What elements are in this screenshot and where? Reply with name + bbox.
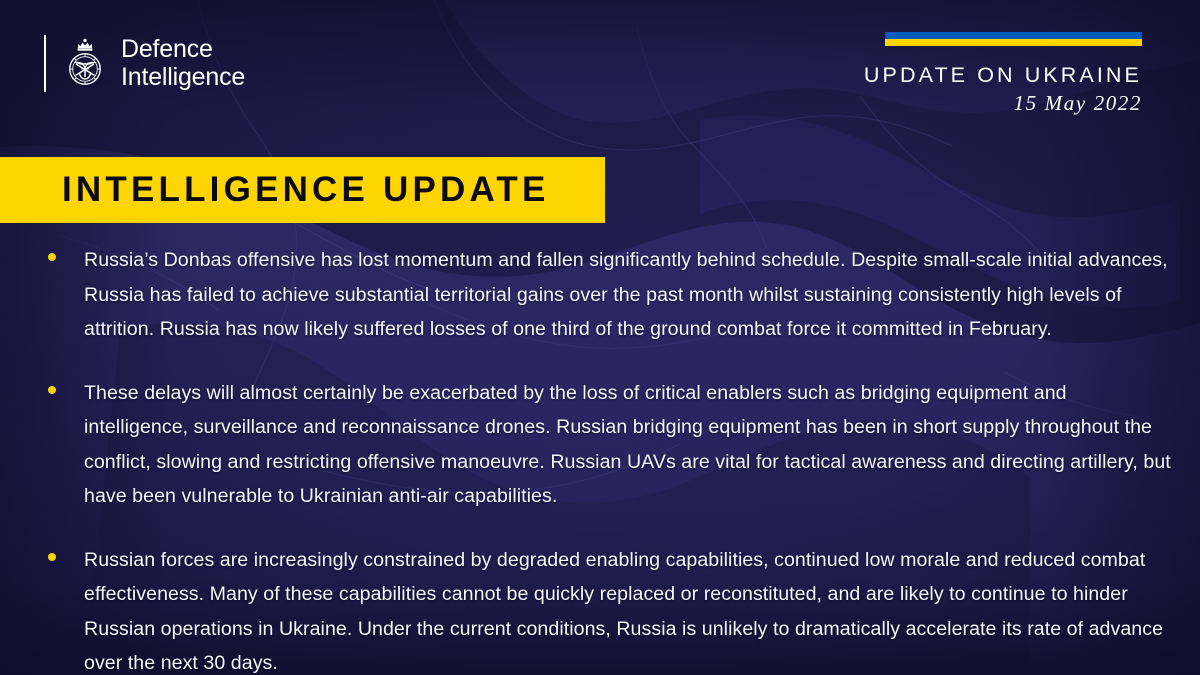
ukraine-flag-bar-icon: [885, 32, 1142, 46]
flag-stripe-blue: [885, 32, 1142, 39]
royal-crest-icon: [62, 33, 108, 93]
organisation-name-line2: Intelligence: [121, 63, 245, 91]
logo-divider-rule: [44, 35, 46, 92]
intelligence-update-banner: INTELLIGENCE UPDATE: [0, 157, 605, 223]
header-right-block: UPDATE ON UKRAINE 15 May 2022: [864, 32, 1142, 116]
list-item: These delays will almost certainly be ex…: [40, 376, 1174, 514]
bullet-dot-icon: [48, 553, 56, 561]
bullet-dot-icon: [48, 253, 56, 261]
banner-label: INTELLIGENCE UPDATE: [62, 170, 550, 210]
update-title: UPDATE ON UKRAINE: [864, 63, 1142, 88]
defence-intelligence-logo: Defence Intelligence: [44, 33, 245, 93]
poster-content: Defence Intelligence UPDATE ON UKRAINE 1…: [0, 0, 1200, 675]
organisation-name-line1: Defence: [121, 35, 245, 63]
bullet-text: Russia’s Donbas offensive has lost momen…: [84, 243, 1174, 347]
organisation-name: Defence Intelligence: [121, 35, 245, 91]
bullet-text: Russian forces are increasingly constrai…: [84, 543, 1174, 675]
bullet-text: These delays will almost certainly be ex…: [84, 376, 1174, 514]
bullet-list: Russia’s Donbas offensive has lost momen…: [40, 243, 1174, 675]
flag-stripe-yellow: [885, 39, 1142, 46]
list-item: Russia’s Donbas offensive has lost momen…: [40, 243, 1174, 347]
intelligence-update-poster: Defence Intelligence UPDATE ON UKRAINE 1…: [0, 0, 1200, 675]
update-date: 15 May 2022: [864, 91, 1142, 116]
bullet-dot-icon: [48, 386, 56, 394]
list-item: Russian forces are increasingly constrai…: [40, 543, 1174, 675]
